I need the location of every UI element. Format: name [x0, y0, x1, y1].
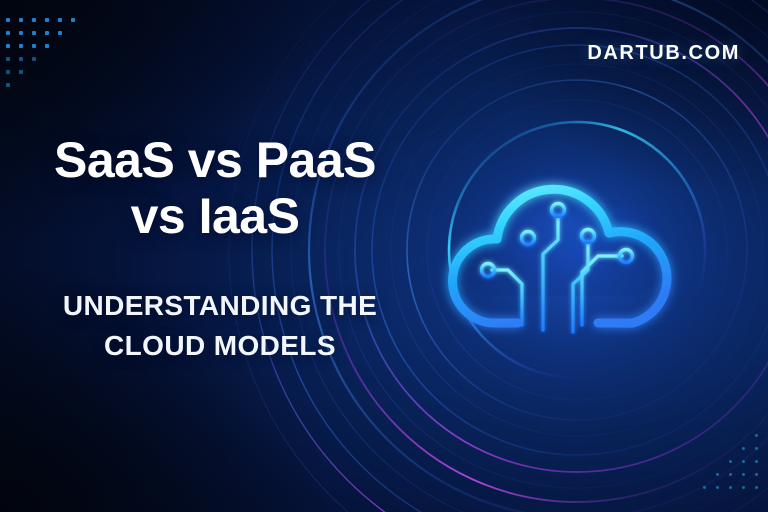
grid-dot	[32, 18, 36, 22]
grid-dot	[6, 18, 10, 22]
grid-dot	[742, 460, 745, 463]
grid-dot	[45, 18, 49, 22]
grid-dot	[6, 31, 10, 35]
grid-dot	[58, 31, 62, 35]
grid-dot	[19, 31, 23, 35]
page-title-line-1: SaaS vs PaaS	[0, 132, 430, 188]
grid-dot	[6, 83, 10, 87]
brand-wordmark: DARTUB.COM	[587, 42, 740, 65]
grid-dot	[71, 18, 75, 22]
grid-dot	[45, 44, 49, 48]
grid-dot	[45, 31, 49, 35]
grid-dot	[32, 57, 36, 61]
dot-grid-bottom-right	[694, 434, 768, 508]
grid-dot	[6, 44, 10, 48]
grid-dot	[742, 473, 745, 476]
dot-grid-top-left	[6, 18, 86, 98]
grid-dot	[755, 434, 758, 437]
grid-dot	[755, 460, 758, 463]
grid-dot	[19, 18, 23, 22]
circuit-traces-exit	[543, 320, 573, 396]
grid-dot	[742, 486, 745, 489]
grid-dot	[729, 460, 732, 463]
grid-dot	[755, 447, 758, 450]
grid-dot	[742, 447, 745, 450]
grid-dot	[755, 486, 758, 489]
banner-canvas: DARTUB.COM SaaS vs PaaS vs IaaS UNDERSTA…	[0, 0, 768, 512]
grid-dot	[716, 473, 719, 476]
grid-dot	[729, 486, 732, 489]
grid-dot	[32, 31, 36, 35]
grid-dot	[729, 473, 732, 476]
cloud-circuit-graphic	[430, 120, 730, 420]
page-subtitle-line-2: CLOUD MODELS	[0, 326, 440, 366]
grid-dot	[19, 44, 23, 48]
grid-dot	[6, 57, 10, 61]
grid-dot	[58, 18, 62, 22]
grid-dot	[703, 486, 706, 489]
page-subtitle: UNDERSTANDING THE CLOUD MODELS	[0, 286, 440, 366]
page-title-line-2: vs IaaS	[0, 188, 430, 244]
grid-dot	[19, 70, 23, 74]
page-title: SaaS vs PaaS vs IaaS	[0, 132, 430, 244]
grid-dot	[755, 473, 758, 476]
grid-dot	[32, 44, 36, 48]
grid-dot	[19, 57, 23, 61]
cloud-circuit-icon	[430, 120, 730, 420]
grid-dot	[716, 486, 719, 489]
grid-dot	[6, 70, 10, 74]
page-subtitle-line-1: UNDERSTANDING THE	[0, 286, 440, 326]
